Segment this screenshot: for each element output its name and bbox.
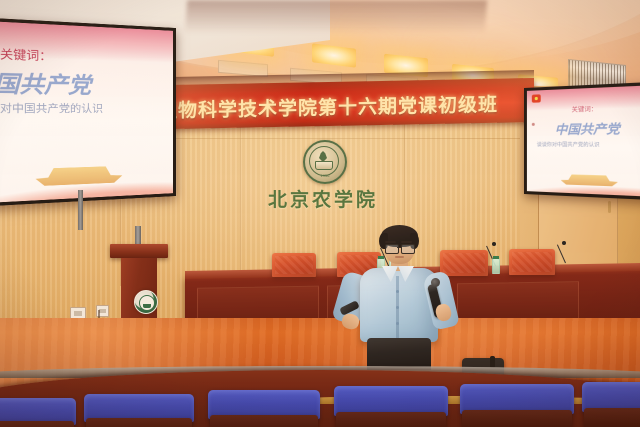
stage-chair — [272, 253, 316, 277]
presenter-mouth — [395, 256, 404, 258]
audience-seat[interactable] — [334, 386, 448, 427]
slide-subtitle: 谈谈你对中国共产党的认识 — [537, 141, 600, 148]
audience-seat[interactable] — [582, 382, 640, 427]
seat-cushion — [584, 408, 640, 427]
seat-cushion — [462, 410, 571, 427]
audience-seat[interactable] — [84, 394, 194, 427]
podium-top — [110, 244, 168, 258]
emblem-book-icon — [315, 161, 333, 170]
banner-title-text: 植物科学技术学院第十六期党课初级班 — [122, 82, 534, 130]
slide-subtitle: 谈谈你对中国共产党的认识 — [0, 98, 103, 115]
lecture-hall-photo: 植物科学技术学院第十六期党课初级班 1956 北京农学院 关键词： 中国共产党 … — [0, 0, 640, 427]
cpc-emblem-icon — [532, 94, 541, 102]
audience-seat[interactable] — [0, 398, 76, 427]
stage-chair — [509, 249, 555, 275]
event-banner: 植物科学技术学院第十六期党课初级班 — [122, 78, 534, 130]
glasses-icon — [385, 244, 399, 254]
shirt-button — [396, 306, 399, 309]
table-reflection — [185, 0, 487, 34]
table-microphone — [562, 241, 566, 245]
slide-keyword-label: 关键词： — [0, 45, 52, 64]
screen-mount-arm — [78, 190, 83, 230]
projection-screen-left: 关键词： 中国共产党 谈谈你对中国共产党的认识 — [0, 17, 176, 207]
projection-screen-right: 关键词： 中国共产党 谈谈你对中国共产党的认识 — [524, 82, 640, 201]
bag-strap — [490, 356, 495, 368]
slide-right: 关键词： 中国共产党 谈谈你对中国共产党的认识 — [527, 85, 640, 197]
shirt-button — [396, 322, 399, 325]
presenter-eyebrow — [401, 241, 412, 243]
school-emblem-icon: 1956 — [303, 140, 347, 184]
slide-keyword-label: 关键词： — [572, 104, 598, 114]
door-handle-icon[interactable] — [608, 201, 611, 213]
slide-bullet — [532, 123, 535, 126]
audience-seat[interactable] — [460, 384, 574, 427]
water-bottle — [492, 258, 500, 274]
shirt-button — [396, 290, 399, 293]
presenter-eyebrow — [385, 241, 396, 243]
table-panel — [457, 281, 579, 321]
seat-cushion — [210, 415, 318, 427]
audience-seat[interactable] — [208, 390, 320, 427]
slide-title: 中国共产党 — [555, 119, 620, 138]
emblem-year-text: 1956 — [305, 173, 345, 178]
school-name-text: 北京农学院 — [262, 185, 384, 212]
seat-cushion — [336, 412, 445, 427]
seat-cushion — [86, 418, 192, 427]
slide-title: 中国共产党 — [0, 65, 91, 100]
podium-mic-stalk — [135, 226, 141, 246]
podium-crest-book-icon — [143, 304, 151, 308]
presenter — [330, 228, 465, 368]
glasses-icon — [401, 244, 415, 254]
podium-crest-icon — [134, 290, 158, 314]
table-microphone — [492, 242, 496, 246]
slide-left: 关键词： 中国共产党 谈谈你对中国共产党的认识 — [0, 20, 173, 203]
glasses-bridge — [397, 247, 401, 248]
seat-cushion — [0, 421, 74, 427]
podium-crest-inner — [139, 295, 155, 311]
